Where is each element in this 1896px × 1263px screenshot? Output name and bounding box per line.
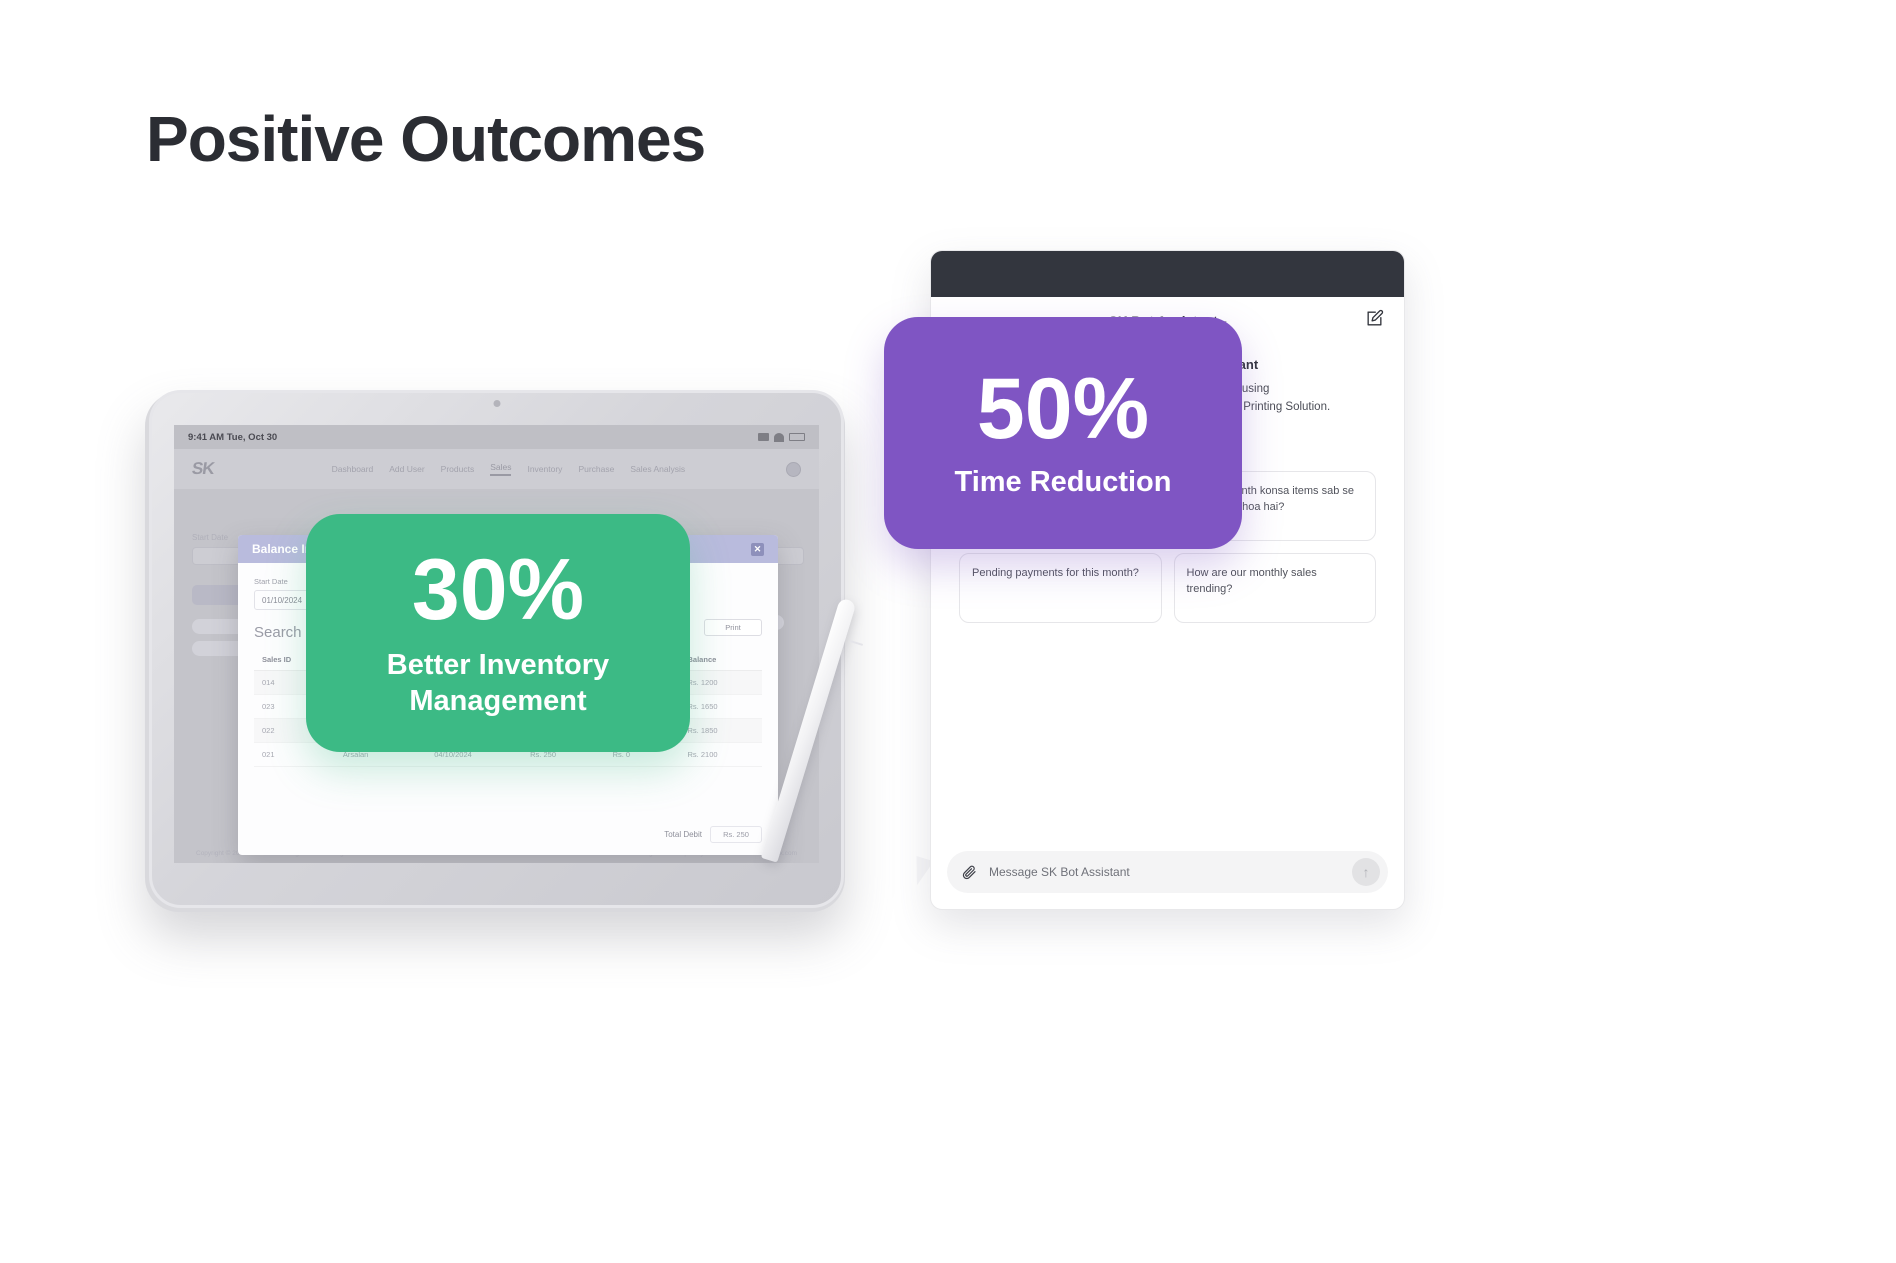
stat-badge-time-reduction: 50% Time Reduction [884,317,1242,549]
nav-item-sales-analysis[interactable]: Sales Analysis [630,464,685,474]
sk-logo[interactable]: SK [191,459,215,479]
total-debit-label: Total Debit [664,830,702,839]
stat-percent: 30% [412,547,584,633]
stylus-pencil [822,600,882,900]
stat-caption-line1: Time Reduction [955,464,1172,500]
stat-caption-line2: Management [409,683,586,719]
suggestion-card-pending-payments[interactable]: Pending payments for this month? [959,553,1162,623]
close-icon[interactable]: ✕ [751,543,764,556]
print-button[interactable]: Print [704,619,762,636]
nav-item-products[interactable]: Products [441,464,475,474]
send-arrow-icon[interactable]: ↑ [1352,858,1380,886]
nav-items: Dashboard Add User Products Sales Invent… [332,462,686,476]
chat-input-placeholder[interactable]: Message SK Bot Assistant [989,865,1130,879]
stat-percent: 50% [977,366,1149,452]
nav-item-dashboard[interactable]: Dashboard [332,464,374,474]
chat-input-bar[interactable]: Message SK Bot Assistant ↑ [947,851,1388,893]
total-debit-value: Rs. 250 [710,826,762,843]
battery-icon [789,433,805,441]
bg-start-date-label: Start Date [192,533,228,542]
nav-item-purchase[interactable]: Purchase [578,464,614,474]
total-debit-row: Total Debit Rs. 250 [664,826,762,843]
wifi-icon [774,433,784,442]
cell-balance: Rs. 1200 [680,671,762,695]
stat-caption-line1: Better Inventory [387,647,609,683]
app-navbar: SK Dashboard Add User Products Sales Inv… [174,449,819,489]
nav-item-add-user[interactable]: Add User [389,464,424,474]
suggestion-card-monthly-sales-trend[interactable]: How are our monthly sales trending? [1174,553,1377,623]
slide-canvas: Positive Outcomes 9:41 AM Tue, Oct 30 SK [0,0,1896,1263]
ipad-status-bar: 9:41 AM Tue, Oct 30 [174,425,819,449]
stat-badge-better-inventory: 30% Better Inventory Management [306,514,690,752]
cell-balance: Rs. 1650 [680,695,762,719]
nav-item-inventory[interactable]: Inventory [527,464,562,474]
pencil-flat-edge [850,640,863,646]
signal-icon [758,433,769,441]
camera-icon [493,400,500,407]
status-time: 9:41 AM Tue, Oct 30 [188,432,277,443]
avatar[interactable] [786,462,801,477]
paperclip-icon[interactable] [961,864,977,880]
chat-topbar [931,251,1404,297]
cell-balance: Rs. 2100 [680,743,762,767]
status-icons [758,433,805,442]
page-title: Positive Outcomes [146,104,705,174]
nav-item-sales[interactable]: Sales [490,462,511,476]
col-balance[interactable]: Balance [680,649,762,671]
compose-icon[interactable] [1365,309,1384,333]
cell-balance: Rs. 1850 [680,719,762,743]
